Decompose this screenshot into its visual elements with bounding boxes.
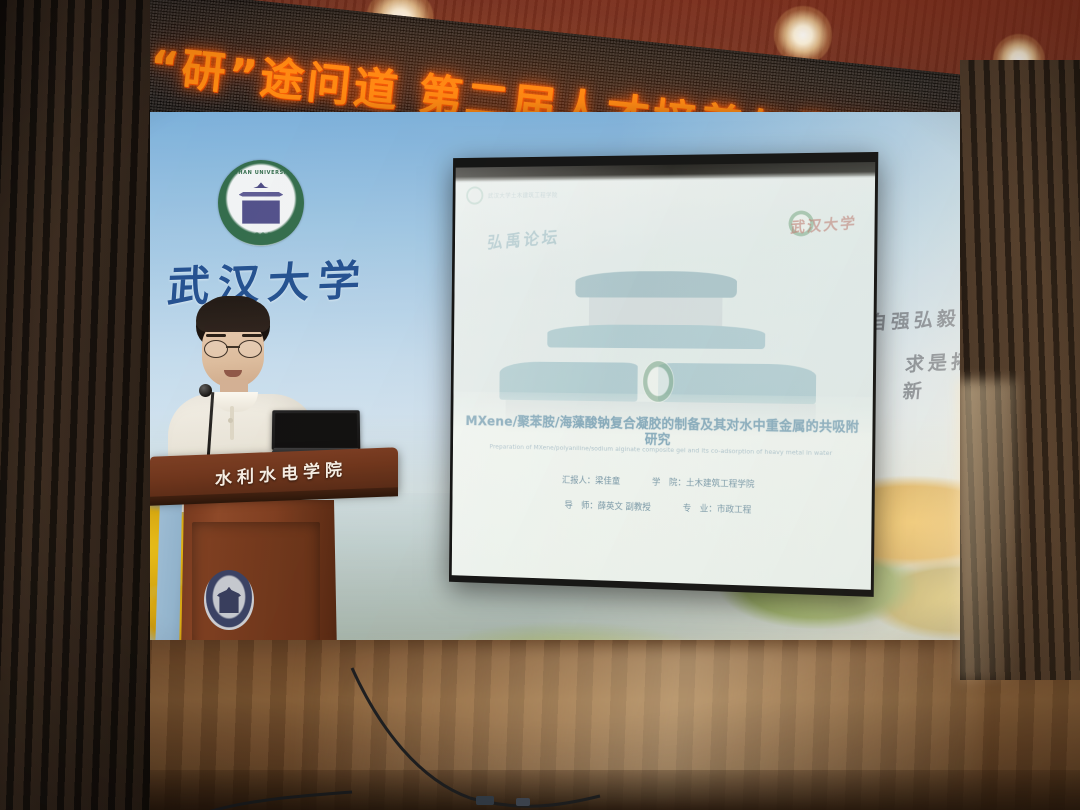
slide-major: 专 业：市政工程 [683, 501, 752, 516]
glasses-bridge [226, 346, 240, 348]
auditorium-scene: “研”途问道 第二届人才培养与学科发展交流论坛--跨学科弘禹论坛 WUHAN U… [0, 0, 1080, 810]
school-logo-text: 武汉大学土木建筑工程学院 [488, 190, 558, 199]
left-wall-slats [0, 0, 150, 810]
presenter-button [228, 418, 233, 423]
right-wall-highlight [958, 380, 1018, 680]
projection-screen: 武汉大学土木建筑工程学院 弘禹论坛 武汉大学 MXene/聚苯胺/海藻酸钠复合凝… [452, 162, 876, 590]
slide-advisor: 导 师：薛英文 副教授 [564, 498, 650, 513]
microphone-icon [199, 384, 212, 397]
cable-connector-secondary [516, 798, 530, 806]
laptop-screen [272, 410, 361, 450]
podium-label: 水利水电学院 [196, 453, 366, 491]
slide-school-logo: 武汉大学土木建筑工程学院 [466, 186, 558, 205]
presenter-eyebrow-left [206, 334, 226, 337]
presenter-eyebrow-right [242, 334, 262, 337]
slide-school: 学 院：土木建筑工程学院 [652, 475, 755, 490]
projection-screen-frame: 武汉大学土木建筑工程学院 弘禹论坛 武汉大学 MXene/聚苯胺/海藻酸钠复合凝… [449, 152, 878, 597]
presenter-placket [230, 406, 234, 440]
slide-presenter-name: 汇报人：梁佳童 [562, 473, 620, 487]
glasses-icon [204, 340, 262, 356]
glasses-lens-left [204, 340, 228, 358]
cables [0, 620, 1080, 810]
school-logo-ring-icon [466, 186, 483, 204]
glasses-lens-right [238, 340, 262, 358]
presenter-fringe [196, 300, 270, 332]
podium-seal-gate-icon [217, 587, 241, 613]
cable-connector [476, 796, 494, 805]
left-wall [0, 0, 150, 810]
laptop-display [275, 413, 357, 447]
